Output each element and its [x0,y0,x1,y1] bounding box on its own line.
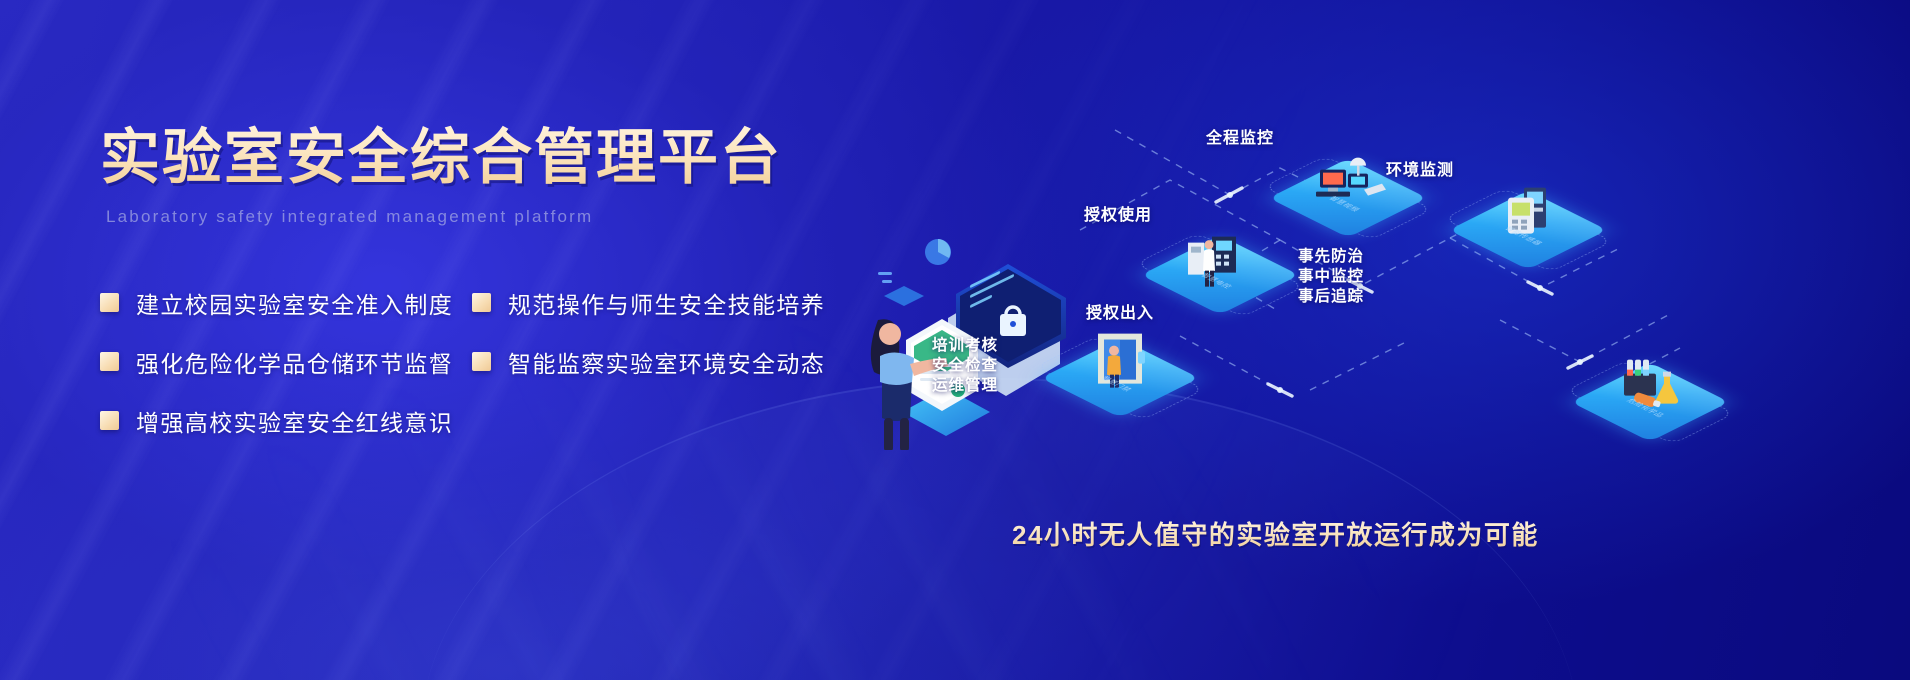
node-label-authorized-use[interactable]: 授权使用 [1084,201,1152,225]
square-bullet-icon [100,293,119,312]
node-label-environment-monitoring[interactable]: 环境监测 [1386,156,1454,180]
square-bullet-icon [472,293,491,312]
square-bullet-icon [100,352,119,371]
prevention-caption-line: 事后追踪 [1298,287,1364,307]
page-title: 实验室安全综合管理平台 [100,124,940,191]
list-item: 规范操作与师生安全技能培养 [472,286,844,320]
node-label-full-monitoring[interactable]: 全程监控 [1206,124,1274,148]
feature-list: 建立校园实验室安全准入制度 规范操作与师生安全技能培养 强化危险化学品仓储环节监… [100,273,940,450]
list-item-label: 强化危险化学品仓储环节监督 [136,345,453,379]
list-item-label: 规范操作与师生安全技能培养 [508,286,825,320]
list-item: 智能监察实验室环境安全动态 [472,345,844,379]
list-item-label: 建立校园实验室安全准入制度 [136,286,453,320]
list-item: 强化危险化学品仓储环节监督 [100,345,472,379]
square-bullet-icon [100,411,119,430]
node-label-authorized-access[interactable]: 授权出入 [1086,299,1154,323]
list-item-label: 智能监察实验室环境安全动态 [508,345,825,379]
hero-caption-line: 培训考核 [932,336,998,356]
list-item: 增强高校实验室安全红线意识 [100,404,472,438]
hero-caption-line: 安全检查 [932,356,998,376]
person-phone-laptop-lock-illustration [840,200,1090,450]
prevention-caption-line: 事中监控 [1298,267,1364,287]
square-bullet-icon [472,352,491,371]
list-item: 建立校园实验室安全准入制度 [100,286,472,320]
prevention-caption-line: 事先防治 [1298,247,1364,267]
left-content: 实验室安全综合管理平台 Laboratory safety integrated… [100,124,940,450]
page-subtitle: Laboratory safety integrated management … [106,207,940,227]
hero-caption-line: 运维管理 [932,376,998,396]
prevention-caption: 事先防治 事中监控 事后追踪 [1298,247,1364,306]
bottom-tagline: 24小时无人值守的实验室开放运行成为可能 [1012,515,1539,552]
banner-root: 实验室安全综合管理平台 Laboratory safety integrated… [0,0,1910,680]
hero-caption: 培训考核 安全检查 运维管理 [932,336,998,395]
list-item-label: 增强高校实验室安全红线意识 [136,404,453,438]
architecture-diagram: 培训考核 安全检查 运维管理 授权使用 [980,90,1910,650]
